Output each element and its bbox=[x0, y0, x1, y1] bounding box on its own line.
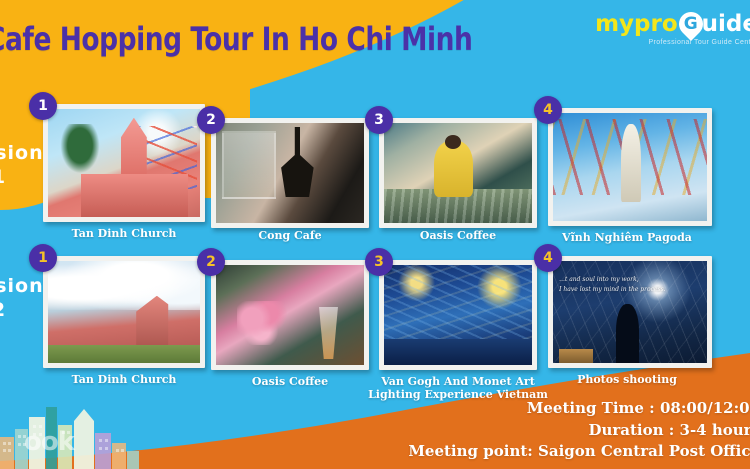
gallery-card-1-2[interactable]: 2 Cong Cafe bbox=[211, 118, 369, 228]
card-badge-1-3: 3 bbox=[365, 106, 393, 134]
photo-oasis-coffee-2 bbox=[216, 265, 364, 365]
card-badge-1-1: 1 bbox=[29, 92, 57, 120]
logo-tagline: Professional Tour Guide Center bbox=[595, 39, 750, 46]
photo-frame-2-1 bbox=[43, 256, 205, 368]
city-skyline-illustration bbox=[0, 399, 150, 469]
page-title: Cafe Hopping Tour In Ho Chi Minh bbox=[0, 20, 472, 58]
logo-text-mypro: mypro bbox=[595, 11, 678, 37]
logo-pin-letter: G bbox=[679, 12, 703, 36]
gallery-card-2-2[interactable]: 2 Oasis Coffee bbox=[211, 260, 369, 370]
session-2-number: 2 bbox=[0, 299, 44, 323]
card-caption-1-2: Cong Cafe bbox=[199, 230, 381, 243]
photo-tan-dinh-church bbox=[48, 109, 200, 217]
brand-logo: myproGuide Professional Tour Guide Cente… bbox=[595, 12, 750, 46]
photo-cong-cafe bbox=[216, 123, 364, 223]
logo-text-uide: uide bbox=[702, 11, 750, 37]
watermark-text: ook bbox=[24, 427, 74, 457]
photo-frame-1-2 bbox=[211, 118, 369, 228]
poster-canvas: Cafe Hopping Tour In Ho Chi Minh myproGu… bbox=[0, 0, 750, 469]
gallery-card-1-3[interactable]: 3 Oasis Coffee bbox=[379, 118, 537, 228]
tour-details: Meeting Time : 08:00/12:00 Duration : 3-… bbox=[408, 398, 750, 463]
photo-tan-dinh-church-2 bbox=[48, 261, 200, 363]
photo-oasis-coffee bbox=[384, 123, 532, 223]
photo-frame-1-1 bbox=[43, 104, 205, 222]
photo-script-line-1: ...t and soul into my work, bbox=[559, 275, 695, 285]
gallery-card-2-4[interactable]: 4 ...t and soul into my work, I have los… bbox=[548, 256, 712, 368]
card-badge-2-1: 1 bbox=[29, 244, 57, 272]
gallery-card-2-3[interactable]: 3 Van Gogh And Monet Art Lighting Experi… bbox=[379, 260, 537, 370]
map-pin-icon: G bbox=[679, 12, 703, 36]
card-badge-2-3: 3 bbox=[365, 248, 393, 276]
photo-script-line-2: I have lost my mind in the process. bbox=[559, 285, 695, 295]
card-caption-1-1: Tan Dinh Church bbox=[33, 228, 215, 241]
session-label-2: Session 2 bbox=[0, 275, 44, 323]
card-badge-2-4: 4 bbox=[534, 244, 562, 272]
photo-frame-2-4: ...t and soul into my work, I have lost … bbox=[548, 256, 712, 368]
card-caption-2-2: Oasis Coffee bbox=[199, 376, 381, 389]
photo-frame-2-3 bbox=[379, 260, 537, 370]
session-1-number: 1 bbox=[0, 166, 44, 190]
photo-frame-2-2 bbox=[211, 260, 369, 370]
card-caption-2-4: Photos shooting bbox=[534, 374, 720, 387]
card-badge-2-2: 2 bbox=[197, 248, 225, 276]
photo-vinh-nghiem-pagoda bbox=[553, 113, 707, 221]
photo-frame-1-3 bbox=[379, 118, 537, 228]
card-caption-1-4: Vĩnh Nghiêm Pagoda bbox=[534, 232, 720, 245]
card-badge-1-2: 2 bbox=[197, 106, 225, 134]
logo-wordmark: myproGuide bbox=[595, 12, 750, 36]
photo-photos-shooting: ...t and soul into my work, I have lost … bbox=[553, 261, 707, 363]
gallery-card-1-4[interactable]: 4 Vĩnh Nghiêm Pagoda bbox=[548, 108, 712, 226]
meeting-point: Meeting point: Saigon Central Post Offic… bbox=[408, 441, 750, 463]
session-1-word: Session bbox=[0, 142, 44, 164]
gallery-card-1-1[interactable]: 1 Tan Dinh Church bbox=[43, 104, 205, 222]
gallery-card-2-1[interactable]: 1 Tan Dinh Church bbox=[43, 256, 205, 368]
tour-duration: Duration : 3-4 hours bbox=[408, 420, 750, 442]
session-2-word: Session bbox=[0, 275, 44, 297]
card-caption-1-3: Oasis Coffee bbox=[367, 230, 549, 243]
photo-frame-1-4 bbox=[548, 108, 712, 226]
meeting-time: Meeting Time : 08:00/12:00 bbox=[408, 398, 750, 420]
card-badge-1-4: 4 bbox=[534, 96, 562, 124]
photo-script-text: ...t and soul into my work, I have lost … bbox=[559, 275, 695, 294]
card-caption-2-1: Tan Dinh Church bbox=[33, 374, 215, 387]
session-label-1: Session 1 bbox=[0, 142, 44, 190]
photo-van-gogh-art-lighting bbox=[384, 265, 532, 365]
